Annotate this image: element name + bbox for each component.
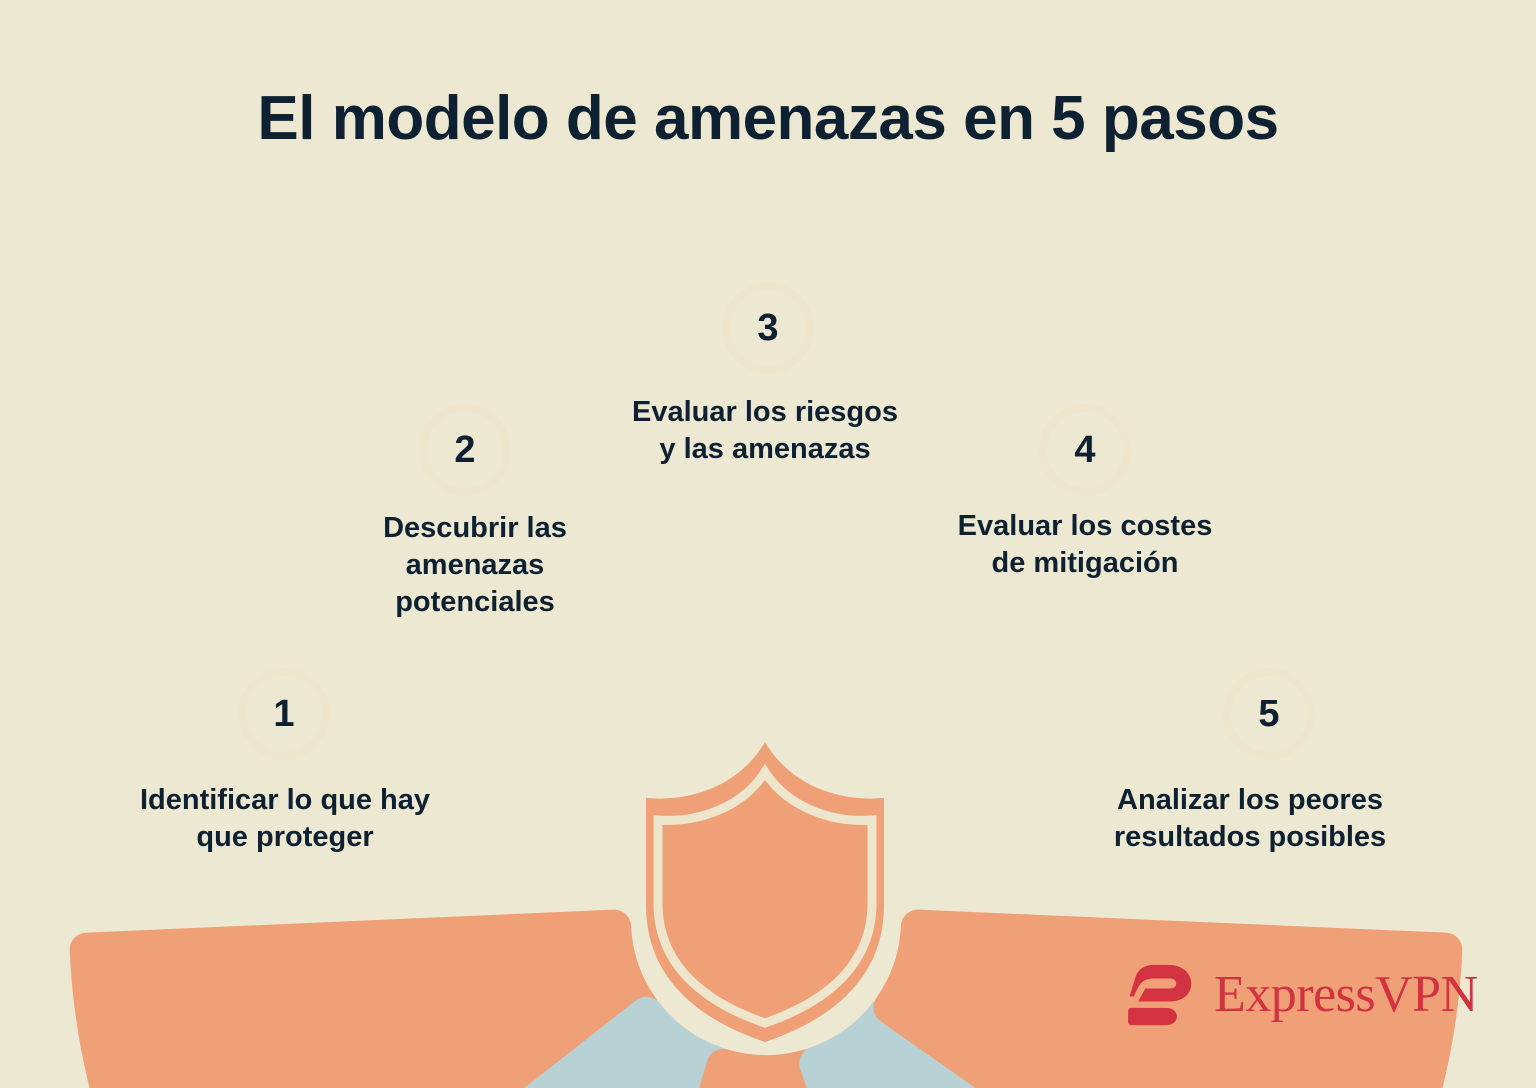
step-number-4: 4 bbox=[1074, 429, 1095, 472]
step-badge-1: 1 bbox=[238, 668, 330, 760]
step-number-1: 1 bbox=[273, 693, 294, 736]
step-badge-4: 4 bbox=[1039, 404, 1131, 496]
step-number-2: 2 bbox=[454, 429, 475, 472]
step-number-5: 5 bbox=[1258, 693, 1279, 736]
expressvpn-wordmark: ExpressVPN bbox=[1214, 969, 1478, 1021]
step-badge-5: 5 bbox=[1223, 668, 1315, 760]
fan-diagram bbox=[0, 0, 1536, 1088]
infographic-canvas: El modelo de amenazas en 5 pasos 1 Ident… bbox=[0, 0, 1536, 1088]
step-number-3: 3 bbox=[757, 307, 778, 350]
shield-icon-group bbox=[646, 742, 884, 1042]
expressvpn-mark-icon bbox=[1128, 962, 1200, 1028]
step-badge-3: 3 bbox=[722, 282, 814, 374]
expressvpn-logo: ExpressVPN bbox=[1128, 962, 1478, 1028]
shield-icon bbox=[646, 742, 884, 1042]
step-badge-2: 2 bbox=[419, 404, 511, 496]
